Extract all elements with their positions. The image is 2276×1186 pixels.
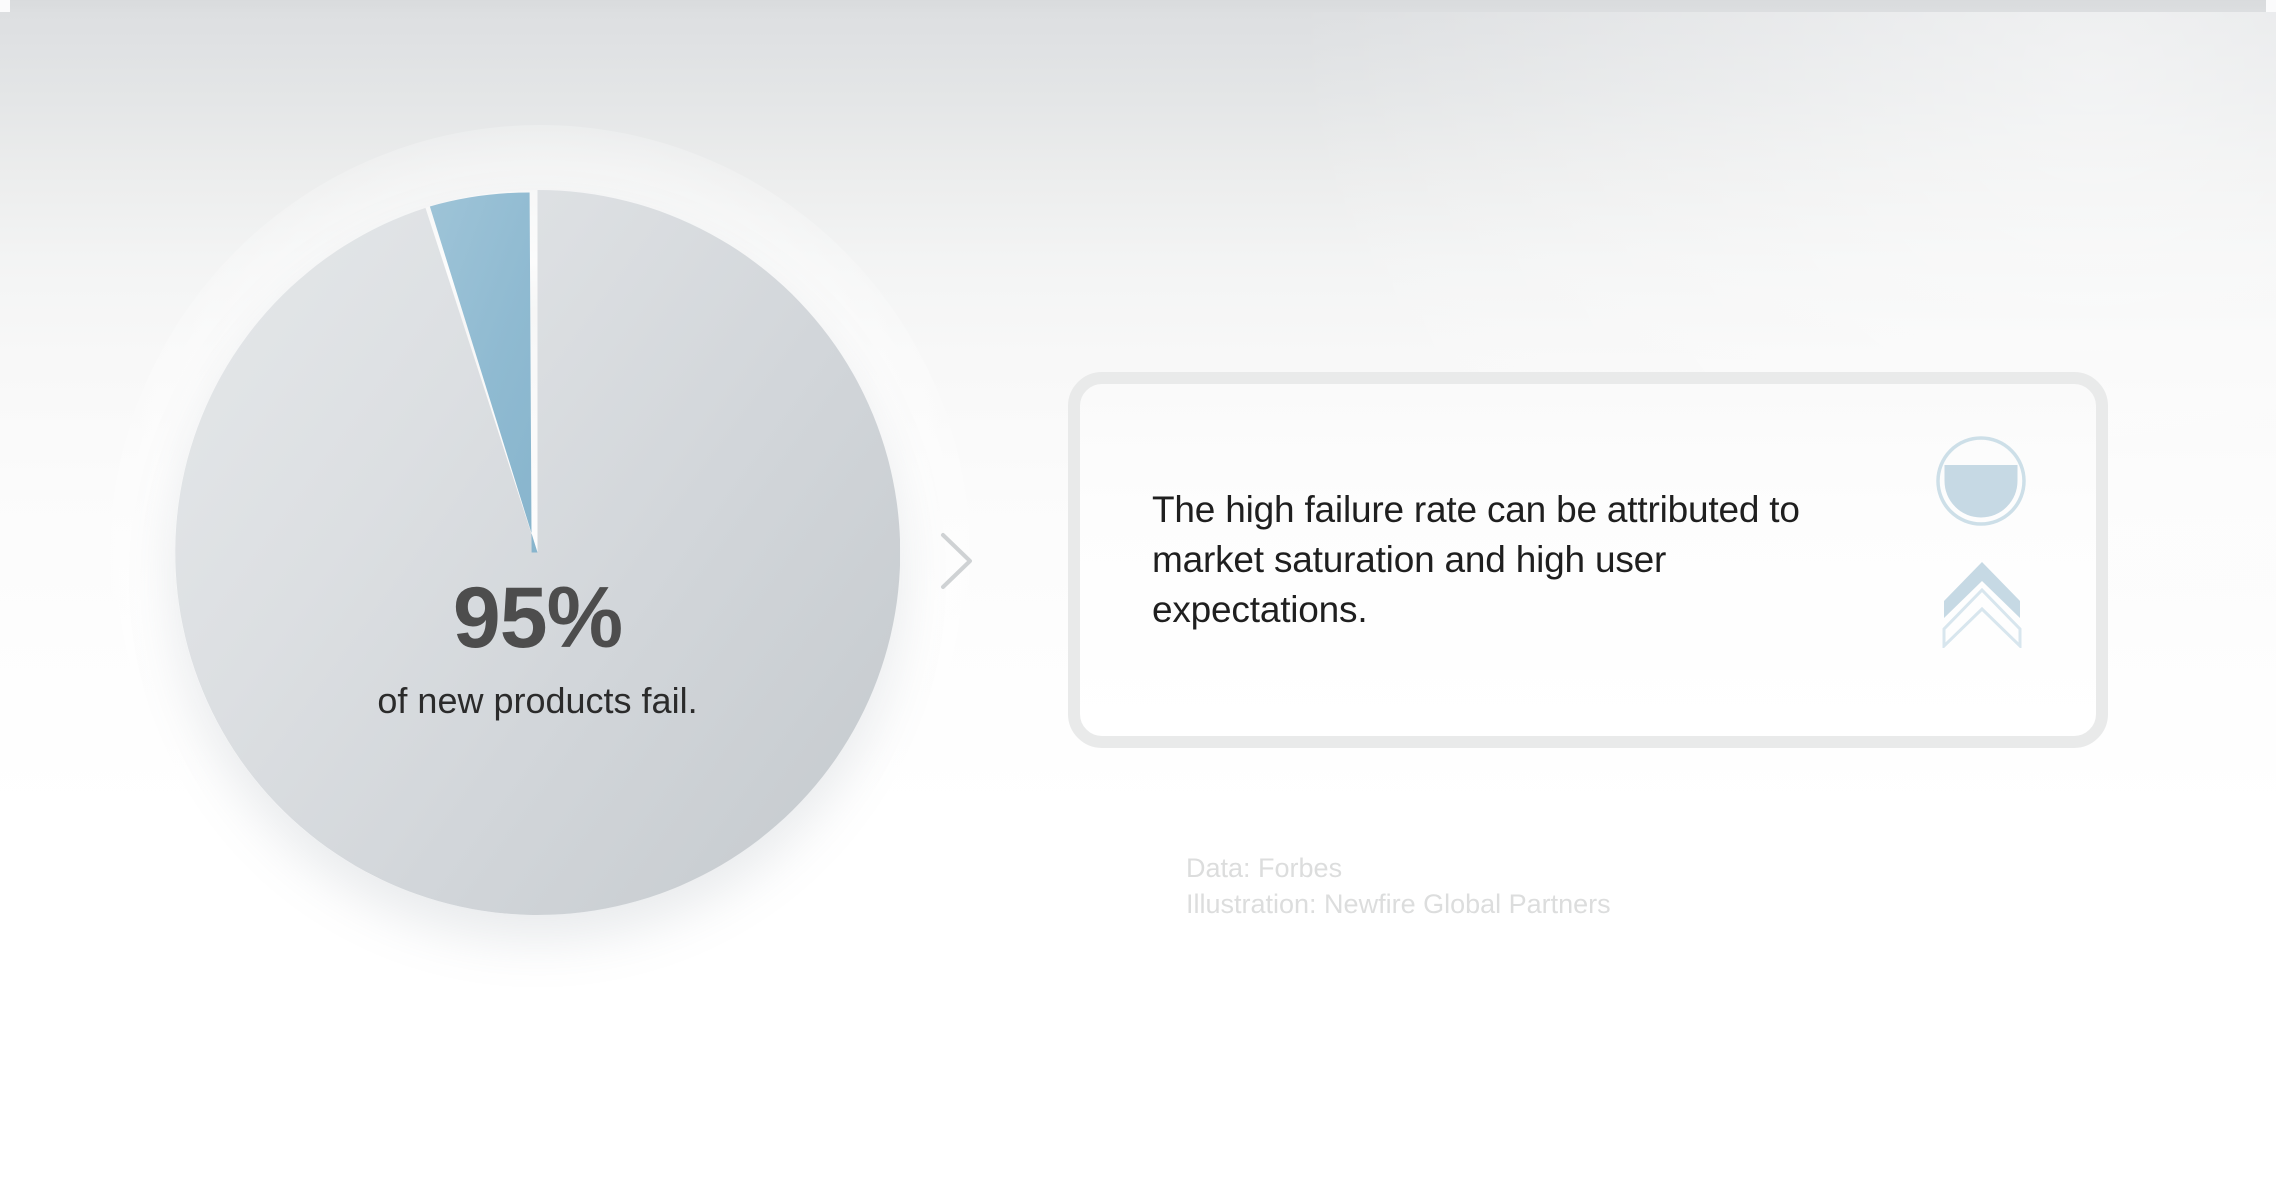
pie-chart: 95% of new products fail. bbox=[110, 125, 970, 985]
insight-card-body: The high failure rate can be attributed … bbox=[1080, 384, 2096, 736]
top-edge-strip bbox=[0, 0, 2276, 12]
attribution-illustration-credit: Illustration: Newfire Global Partners bbox=[1186, 887, 1611, 923]
attribution-block: Data: Forbes Illustration: Newfire Globa… bbox=[1186, 851, 1611, 922]
top-edge-notch-right bbox=[2266, 0, 2276, 12]
pie-slice-fail bbox=[175, 190, 900, 915]
circle-fill-icon bbox=[1934, 434, 2028, 528]
chevron-right-icon bbox=[935, 530, 979, 592]
insight-card-text: The high failure rate can be attributed … bbox=[1080, 485, 1896, 636]
pie-chart-svg bbox=[175, 190, 900, 915]
double-chevron-up-icon bbox=[1940, 560, 2024, 648]
attribution-data-source: Data: Forbes bbox=[1186, 851, 1611, 887]
top-edge-notch-left bbox=[0, 0, 10, 12]
insight-card[interactable]: The high failure rate can be attributed … bbox=[1068, 372, 2108, 748]
insight-card-icons bbox=[1896, 384, 2096, 736]
infographic-stage: 95% of new products fail. The high failu… bbox=[0, 0, 2276, 1186]
